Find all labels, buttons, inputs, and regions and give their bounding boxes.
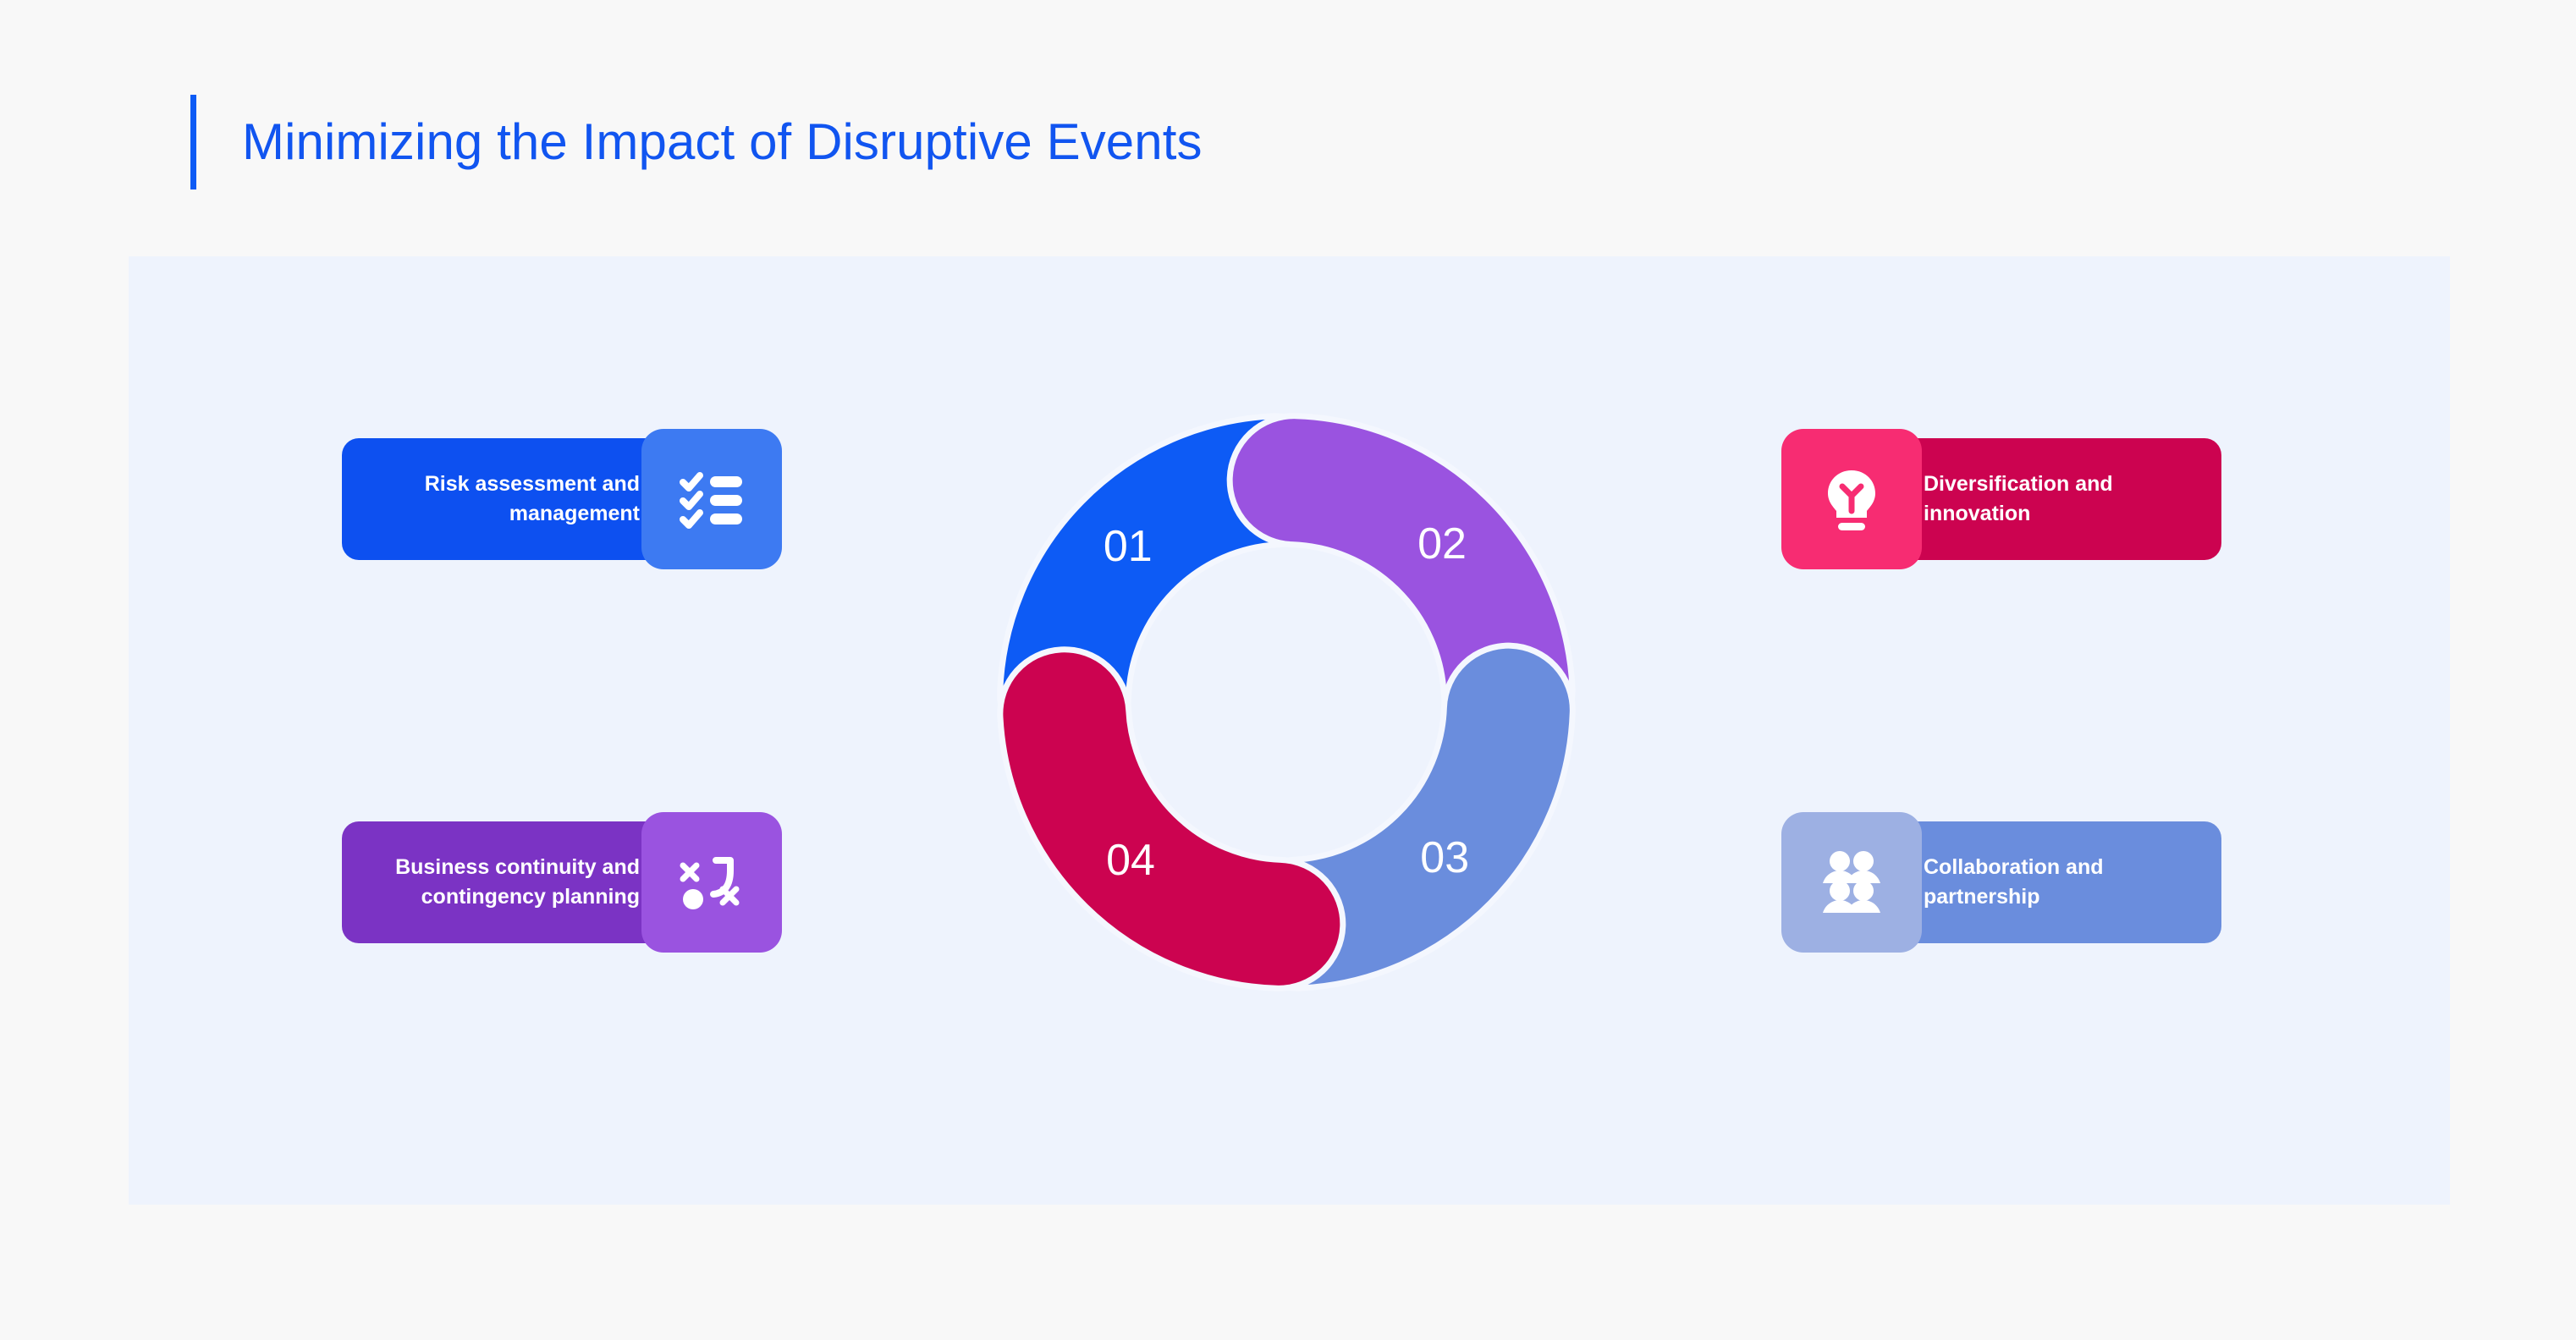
page-header: Minimizing the Impact of Disruptive Even… [190, 95, 1203, 189]
checklist-icon-tile[interactable] [641, 429, 782, 569]
donut-svg: 01020304 [948, 364, 1625, 1041]
card-risk-assessment[interactable]: Risk assessment and management [342, 429, 782, 569]
donut-label-01: 01 [1104, 522, 1153, 571]
card-label-text: Collaboration and partnership [1924, 853, 2221, 913]
donut-segment-04[interactable] [1065, 714, 1279, 925]
process-cycle-donut-chart: 01020304 [948, 364, 1625, 1041]
lightbulb-icon [1816, 464, 1887, 535]
donut-label-04: 04 [1106, 836, 1155, 885]
card-diversification[interactable]: Diversification and innovation [1781, 429, 2221, 569]
title-accent-bar [190, 95, 196, 189]
card-label-bar: Risk assessment and management [342, 438, 680, 560]
card-label-text: Business continuity and contingency plan… [342, 853, 640, 913]
checklist-icon [676, 464, 747, 535]
card-label-bar: Business continuity and contingency plan… [342, 821, 680, 943]
donut-label-02: 02 [1417, 519, 1467, 568]
people-group-icon-tile[interactable] [1781, 812, 1922, 953]
people-group-icon [1816, 847, 1887, 918]
card-collaboration[interactable]: Collaboration and partnership [1781, 812, 2221, 953]
card-label-text: Risk assessment and management [342, 470, 640, 530]
card-label-bar: Diversification and innovation [1883, 438, 2221, 560]
donut-label-03: 03 [1420, 833, 1469, 882]
card-label-bar: Collaboration and partnership [1883, 821, 2221, 943]
lightbulb-icon-tile[interactable] [1781, 429, 1922, 569]
strategy-playbook-icon [676, 847, 747, 918]
card-label-text: Diversification and innovation [1924, 470, 2221, 530]
card-business-continuity[interactable]: Business continuity and contingency plan… [342, 812, 782, 953]
page-title: Minimizing the Impact of Disruptive Even… [242, 117, 1203, 167]
strategy-playbook-icon-tile[interactable] [641, 812, 782, 953]
